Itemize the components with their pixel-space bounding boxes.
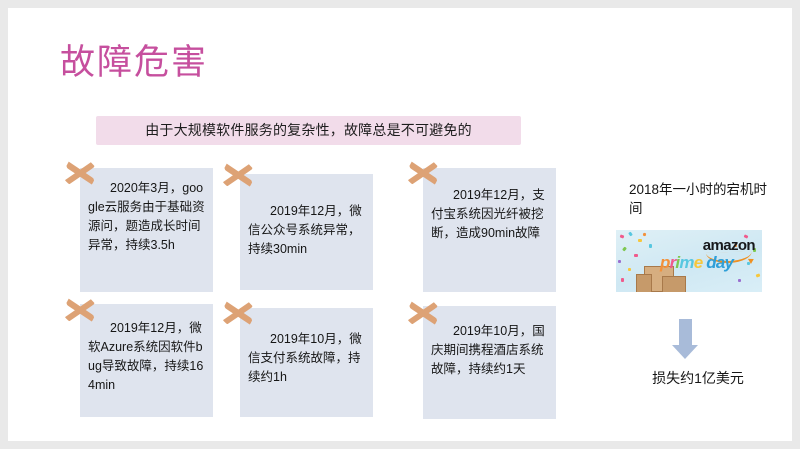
incident-card: 2019年12月，微信公众号系统异常，持续30min — [240, 174, 373, 290]
subtitle-text: 由于大规模软件服务的复杂性，故障总是不可避免的 — [96, 121, 521, 140]
page-title: 故障危害 — [60, 41, 208, 85]
incident-card-text: 2019年10月，微信支付系统故障，持续约1h — [248, 330, 366, 387]
incident-card-text: 2019年12月，支付宝系统因光纤被挖断，造成90min故障 — [431, 186, 549, 243]
amazon-prime-day-image: amazon prime day — [616, 230, 762, 292]
incident-card-text: 2019年12月，微信公众号系统异常，持续30min — [248, 202, 366, 259]
cardboard-box — [636, 274, 652, 292]
incident-card-text: 2019年10月，国庆期间携程酒店系统故障，持续约1天 — [431, 322, 549, 379]
subtitle-banner: 由于大规模软件服务的复杂性，故障总是不可避免的 — [96, 116, 521, 145]
incident-card-text: 2020年3月，google云服务由于基础资源问，题造成长时间异常，持续3.5h — [88, 179, 206, 255]
incident-card: 2020年3月，google云服务由于基础资源问，题造成长时间异常，持续3.5h — [80, 168, 213, 292]
loss-amount-text: 损失约1亿美元 — [608, 368, 788, 388]
incident-card-text: 2019年12月，微软Azure系统因软件bug导致故障，持续164min — [88, 319, 206, 395]
prime-day-wordmark: prime day — [660, 254, 733, 271]
slide-canvas: 故障危害 由于大规模软件服务的复杂性，故障总是不可避免的 2020年3月，goo… — [8, 8, 792, 441]
downtime-heading: 2018年一小时的宕机时间 — [629, 180, 779, 218]
cardboard-box — [662, 276, 686, 292]
incident-card: 2019年12月，微软Azure系统因软件bug导致故障，持续164min — [80, 304, 213, 417]
down-arrow-icon — [679, 319, 692, 345]
incident-card: 2019年10月，微信支付系统故障，持续约1h — [240, 308, 373, 417]
incident-card: 2019年12月，支付宝系统因光纤被挖断，造成90min故障 — [423, 168, 556, 292]
incident-card: 2019年10月，国庆期间携程酒店系统故障，持续约1天 — [423, 306, 556, 419]
